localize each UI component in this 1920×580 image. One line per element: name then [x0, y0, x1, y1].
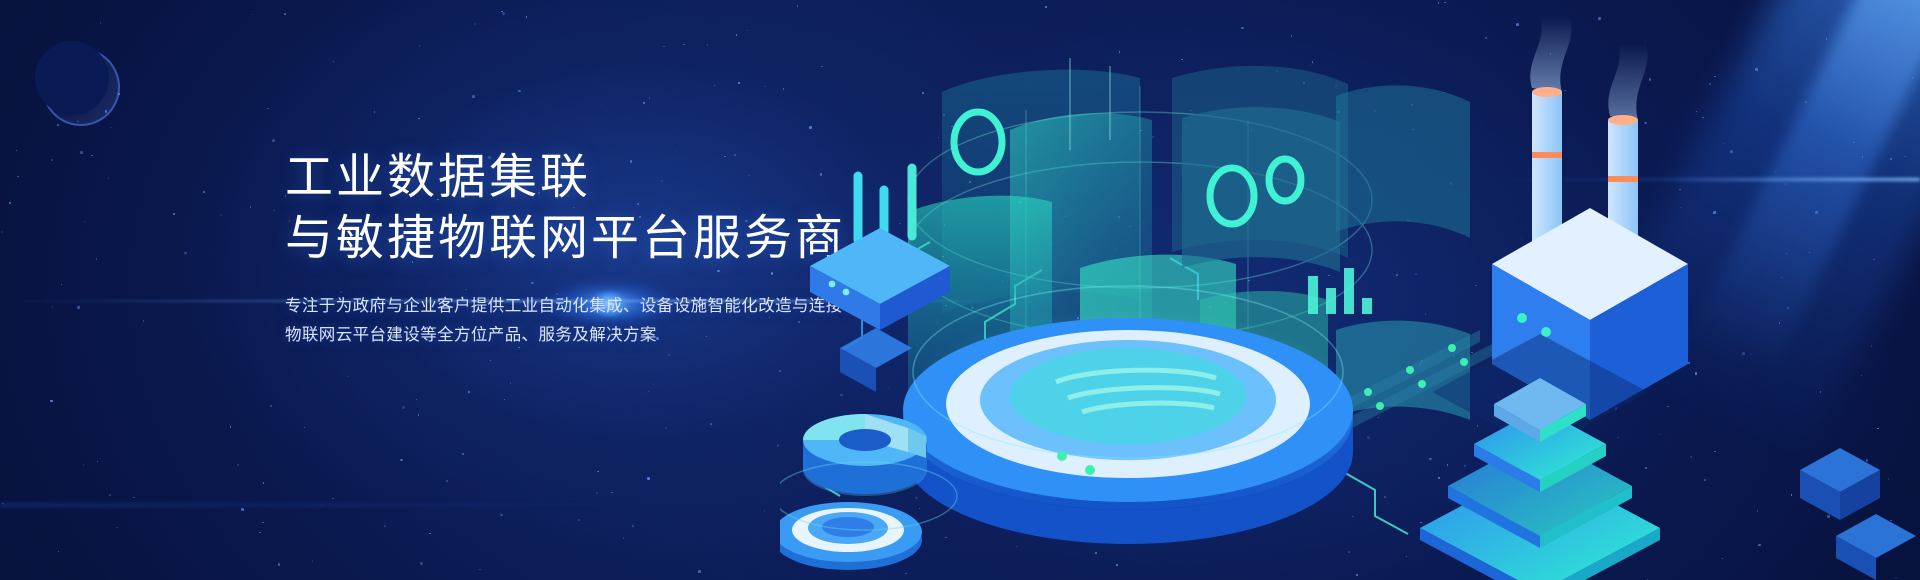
star-dot [504, 399, 506, 401]
crescent-moon-icon [42, 48, 120, 126]
star-dot [203, 191, 205, 193]
star-dot [347, 376, 349, 378]
star-dot [278, 563, 281, 566]
light-streak-horizontal-bottom [0, 504, 720, 506]
star-dot [284, 13, 286, 15]
star-dot [267, 108, 269, 110]
star-dot [502, 12, 505, 15]
star-dot [230, 426, 232, 428]
star-dot [402, 406, 405, 409]
star-dot [707, 44, 709, 46]
star-dot [479, 569, 481, 571]
star-dot [747, 30, 749, 32]
star-dot [51, 159, 53, 161]
star-dot [9, 202, 11, 204]
star-dot [16, 150, 18, 152]
star-dot [79, 305, 81, 307]
star-dot [596, 492, 598, 494]
star-dot [57, 124, 59, 126]
star-dot [272, 139, 275, 142]
star-dot [50, 400, 53, 403]
star-dot [143, 320, 145, 322]
star-dot [333, 61, 335, 63]
star-dot [653, 383, 655, 385]
star-dot [116, 527, 118, 529]
star-dot [597, 471, 599, 473]
star-dot [501, 11, 503, 13]
star-dot [263, 482, 265, 484]
star-dot [526, 16, 528, 18]
star-dot [384, 525, 386, 527]
star-dot [419, 45, 421, 47]
star-dot [736, 34, 738, 36]
star-dot [510, 382, 512, 384]
star-dot [321, 505, 323, 507]
star-dot [518, 90, 521, 93]
star-dot [420, 562, 423, 565]
star-dot [764, 510, 766, 512]
star-dot [262, 522, 264, 524]
star-dot [500, 514, 503, 517]
star-dot [418, 118, 420, 120]
star-dot [2, 503, 4, 505]
star-dot [273, 210, 275, 212]
star-dot [252, 14, 254, 16]
star-dot [84, 221, 86, 223]
star-dot [250, 206, 252, 208]
star-dot [77, 306, 80, 309]
star-dot [270, 405, 273, 408]
star-dot [374, 111, 376, 113]
star-dot [611, 492, 613, 494]
star-dot [237, 464, 239, 466]
star-dot [710, 423, 712, 425]
star-dot [648, 391, 650, 393]
star-dot [623, 537, 625, 539]
star-dot [665, 427, 667, 429]
star-dot [474, 23, 477, 26]
star-dot [91, 155, 93, 157]
star-dot [259, 532, 261, 534]
star-dot [83, 464, 85, 466]
page-subtitle: 专注于为政府与企业客户提供工业自动化集成、设备设施智能化改造与连接、 物联网云平… [285, 292, 860, 351]
star-dot [632, 525, 634, 527]
star-dot [97, 461, 99, 463]
page-title: 工业数据集联 与敏捷物联网平台服务商 [285, 148, 860, 270]
star-dot [58, 551, 60, 553]
isometric-illustration [780, 0, 1920, 580]
star-dot [241, 508, 244, 511]
star-dot [578, 519, 580, 521]
star-dot [683, 44, 685, 46]
star-dot [472, 95, 475, 98]
star-dot [61, 284, 63, 286]
floating-cubes [1800, 448, 1916, 580]
star-dot [738, 82, 740, 84]
hero-banner: 工业数据集联 与敏捷物联网平台服务商 专注于为政府与企业客户提供工业自动化集成、… [0, 0, 1920, 580]
star-dot [110, 127, 112, 129]
star-dot [100, 22, 102, 24]
star-dot [490, 360, 492, 362]
star-dot [400, 459, 403, 462]
hero-text-block: 工业数据集联 与敏捷物联网平台服务商 专注于为政府与企业客户提供工业自动化集成、… [285, 148, 860, 351]
star-dot [304, 427, 306, 429]
star-dot [312, 560, 314, 562]
star-dot [17, 176, 19, 178]
star-dot [649, 97, 651, 99]
star-dot [698, 570, 701, 573]
star-dot [714, 85, 716, 87]
star-dot [647, 477, 650, 480]
star-dot [601, 105, 603, 107]
star-dot [468, 391, 470, 393]
star-dot [133, 497, 135, 499]
star-dot [429, 533, 431, 535]
star-dot [1, 231, 3, 233]
star-dot [173, 213, 175, 215]
star-dot [643, 102, 646, 105]
star-dot [220, 214, 223, 217]
factory-indicator-1 [1517, 313, 1527, 323]
star-dot [663, 46, 665, 48]
star-dot [764, 86, 766, 88]
star-dot [109, 494, 111, 496]
star-dot [668, 354, 671, 357]
star-dot [446, 480, 448, 482]
star-dot [80, 151, 83, 154]
floating-cube-left [840, 328, 912, 392]
star-dot [418, 414, 420, 416]
star-dot [462, 453, 464, 455]
star-dot [416, 399, 418, 401]
star-dot [96, 258, 98, 260]
star-dot [108, 177, 110, 179]
star-dot [184, 252, 187, 255]
star-dot [332, 498, 334, 500]
star-dot [52, 306, 54, 308]
